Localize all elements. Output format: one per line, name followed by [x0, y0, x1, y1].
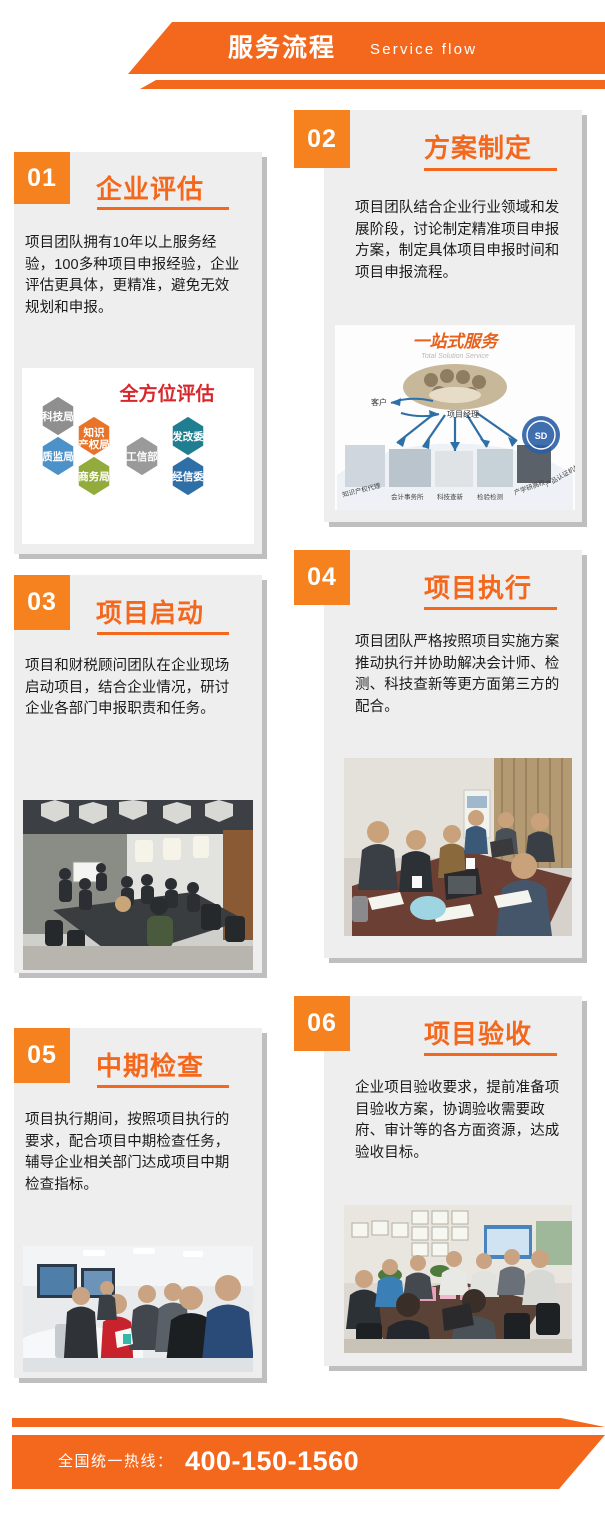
- step-body-06: 企业项目验收要求，提前准备项目验收方案，协调验收需要政府、审计等的各方面资源，达…: [355, 1078, 567, 1164]
- step-body-04: 项目团队严格按照项目实施方案推动执行并协助解决会计师、检测、科技查新等更方面第三…: [355, 632, 567, 718]
- svg-text:工信部: 工信部: [126, 450, 158, 463]
- photo-acceptance-meeting: [344, 1205, 572, 1353]
- step-title-rule-03: [97, 632, 229, 635]
- step-title-rule-01: [97, 207, 229, 210]
- svg-text:科技查新: 科技查新: [437, 492, 464, 501]
- photo-working-meeting: [344, 758, 572, 936]
- header-orange-band: [128, 22, 605, 74]
- step-title-04: 项目执行: [424, 568, 532, 605]
- step-body-01: 项目团队拥有10年以上服务经验，100多种项目申报经验，企业评估更具体，更精准，…: [25, 233, 243, 319]
- step-title-02: 方案制定: [424, 128, 532, 165]
- one-stop-diagram: 一站式服务 Total Solution Service: [335, 325, 575, 510]
- step-title-rule-04: [424, 607, 557, 610]
- svg-text:项目经理: 项目经理: [447, 409, 479, 419]
- page-header: 服务流程 Service flow: [0, 0, 605, 106]
- page-subtitle: Service flow: [370, 39, 477, 61]
- svg-text:会计事务所: 会计事务所: [391, 492, 424, 501]
- svg-text:产权局: 产权局: [78, 438, 110, 451]
- step-badge-06: 06: [294, 996, 350, 1051]
- hotline-number[interactable]: 400-150-1560: [185, 1442, 359, 1480]
- step-title-05: 中期检查: [96, 1046, 204, 1083]
- step-title-rule-06: [424, 1053, 557, 1056]
- step-title-01: 企业评估: [96, 169, 204, 206]
- hex-diagram: 科技局 质监局 知识 产权局 商务局 工信部 发改委 经信委 全方位评估: [22, 368, 254, 544]
- svg-text:经信委: 经信委: [172, 470, 204, 483]
- svg-text:一站式服务: 一站式服务: [413, 332, 501, 351]
- svg-text:发改委: 发改委: [171, 430, 204, 443]
- step-title-06: 项目验收: [424, 1014, 532, 1051]
- svg-text:SD: SD: [535, 431, 548, 441]
- page-title: 服务流程: [228, 30, 336, 66]
- svg-text:商务局: 商务局: [78, 470, 110, 483]
- step-badge-03: 03: [14, 575, 70, 630]
- step-body-03: 项目和财税顾问团队在企业现场启动项目，结合企业情况，研讨企业各部门申报职责和任务…: [25, 656, 243, 721]
- step-body-02: 项目团队结合企业行业领域和发展阶段，讨论制定精准项目申报方案，制定具体项目申报时…: [355, 198, 567, 284]
- hotline-label: 全国统一热线：: [58, 1450, 174, 1474]
- svg-text:全方位评估: 全方位评估: [118, 382, 214, 405]
- step-badge-01: 01: [14, 152, 70, 204]
- svg-text:知识: 知识: [84, 426, 105, 439]
- svg-text:检验检测: 检验检测: [477, 492, 504, 501]
- svg-text:质监局: 质监局: [42, 450, 74, 463]
- page-footer: 全国统一热线： 400-150-1560: [0, 1418, 605, 1538]
- step-title-rule-02: [424, 168, 557, 171]
- footer-orange-stripe: [12, 1418, 605, 1427]
- photo-conference-room: [23, 800, 253, 970]
- photo-showroom-visit: [23, 1246, 253, 1372]
- step-body-05: 项目执行期间，按照项目执行的要求，配合项目中期检查任务，辅导企业相关部门达成项目…: [25, 1110, 243, 1196]
- step-badge-04: 04: [294, 550, 350, 605]
- svg-text:客户: 客户: [371, 397, 387, 407]
- step-badge-05: 05: [14, 1028, 70, 1083]
- step-title-03: 项目启动: [96, 593, 204, 630]
- svg-text:科技局: 科技局: [42, 410, 74, 423]
- step-title-rule-05: [97, 1085, 229, 1088]
- svg-text:Total Solution Service: Total Solution Service: [421, 353, 489, 360]
- header-orange-stripe: [140, 80, 605, 89]
- step-badge-02: 02: [294, 110, 350, 168]
